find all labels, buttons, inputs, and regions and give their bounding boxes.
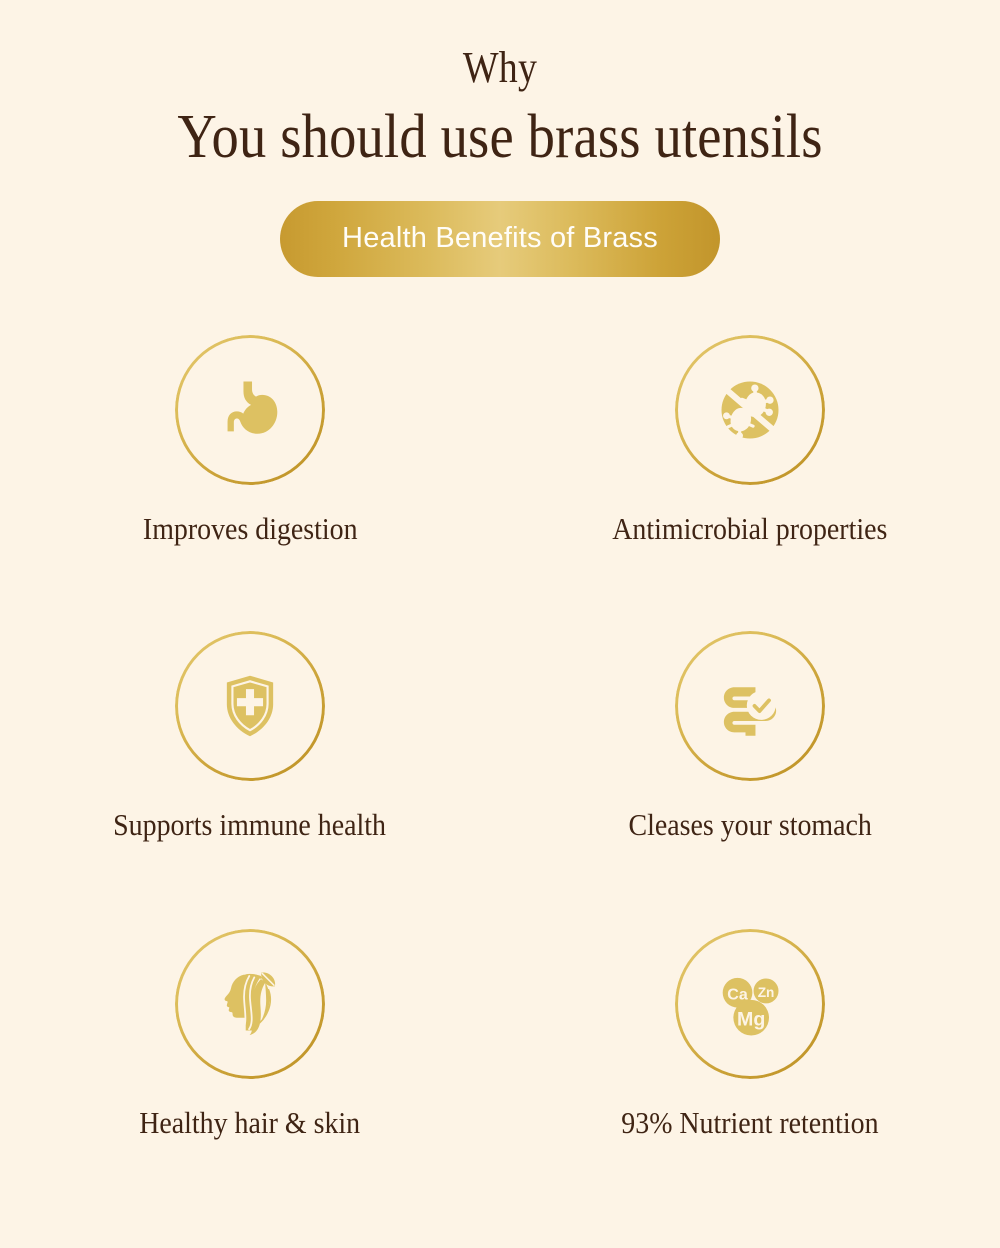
page-title: You should use brass utensils — [60, 104, 940, 171]
germ-blocked-icon — [712, 372, 788, 448]
benefit-item-cleases-your-stomach: Cleases your stomach — [500, 631, 1000, 929]
eyebrow-text: Why — [70, 46, 930, 90]
icon-ring — [675, 631, 825, 781]
benefit-item-antimicrobial-properties: Antimicrobial properties — [500, 335, 1000, 631]
benefit-item-improves-digestion: Improves digestion — [0, 335, 500, 631]
benefits-grid: Improves digestion — [0, 335, 1000, 1169]
magnesium-label: Mg — [737, 1008, 765, 1030]
icon-ring — [675, 335, 825, 485]
zinc-label: Zn — [758, 985, 775, 1000]
benefit-label: Antimicrobial properties — [612, 511, 887, 547]
benefit-label: Supports immune health — [114, 807, 387, 843]
infographic-page: Why You should use brass utensils Health… — [0, 0, 1000, 1248]
shield-cross-icon — [212, 668, 288, 744]
benefit-label: Improves digestion — [143, 511, 358, 547]
benefit-item-supports-immune-health: Supports immune health — [0, 631, 500, 929]
icon-ring — [175, 335, 325, 485]
icon-ring — [175, 929, 325, 1079]
header: Why You should use brass utensils — [0, 0, 1000, 171]
icon-ring — [175, 631, 325, 781]
benefit-label: Cleases your stomach — [628, 807, 871, 843]
stomach-icon — [212, 372, 288, 448]
benefit-item-nutrient-retention: Ca Zn Mg 93% Nutrient retention — [500, 929, 1000, 1169]
badge-label: Health Benefits of Brass — [342, 222, 658, 255]
benefit-label: 93% Nutrient retention — [621, 1105, 878, 1141]
benefit-label: Healthy hair & skin — [140, 1105, 361, 1141]
woman-hair-leaf-icon — [212, 966, 288, 1042]
benefit-item-healthy-hair-skin: Healthy hair & skin — [0, 929, 500, 1169]
badge-container: Health Benefits of Brass — [0, 201, 1000, 277]
calcium-label: Ca — [727, 985, 749, 1003]
minerals-icon: Ca Zn Mg — [712, 966, 788, 1042]
intestine-check-icon — [712, 668, 788, 744]
health-benefits-badge: Health Benefits of Brass — [280, 201, 720, 277]
icon-ring: Ca Zn Mg — [675, 929, 825, 1079]
